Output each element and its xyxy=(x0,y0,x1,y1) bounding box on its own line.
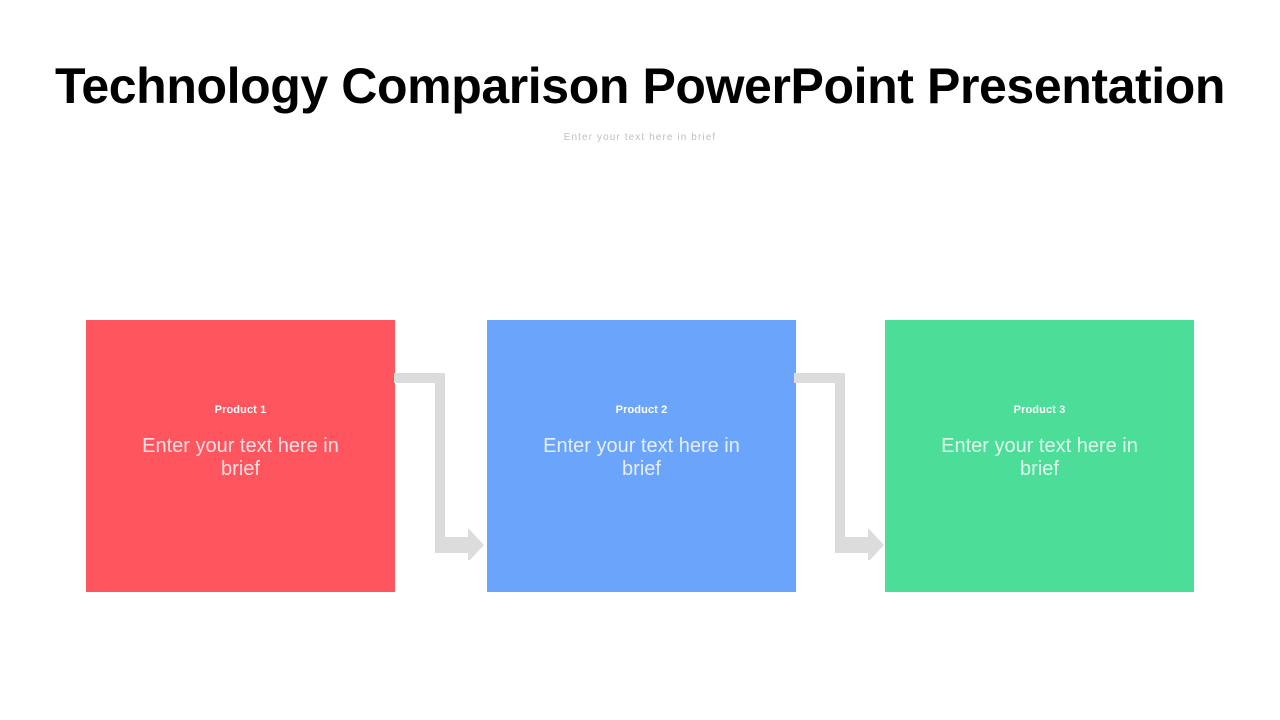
product-card-3[interactable]: Product 3 Enter your text here in brief xyxy=(885,320,1194,592)
product-card-2-body: Enter your text here in brief xyxy=(534,435,749,481)
product-card-1-label: Product 1 xyxy=(215,403,267,417)
comparison-cards-row: Product 1 Enter your text here in brief … xyxy=(0,0,1280,720)
product-card-2-label: Product 2 xyxy=(616,403,668,417)
product-card-3-body: Enter your text here in brief xyxy=(932,435,1147,481)
product-card-1-body: Enter your text here in brief xyxy=(133,435,348,481)
connector-arrow-1 xyxy=(394,365,490,560)
arrow-right-elbow-icon xyxy=(794,365,890,560)
product-card-1[interactable]: Product 1 Enter your text here in brief xyxy=(86,320,395,592)
connector-arrow-2 xyxy=(794,365,890,560)
presentation-slide: Technology Comparison PowerPoint Present… xyxy=(0,0,1280,720)
product-card-3-label: Product 3 xyxy=(1014,403,1066,417)
product-card-2[interactable]: Product 2 Enter your text here in brief xyxy=(487,320,796,592)
arrow-right-elbow-icon xyxy=(394,365,490,560)
